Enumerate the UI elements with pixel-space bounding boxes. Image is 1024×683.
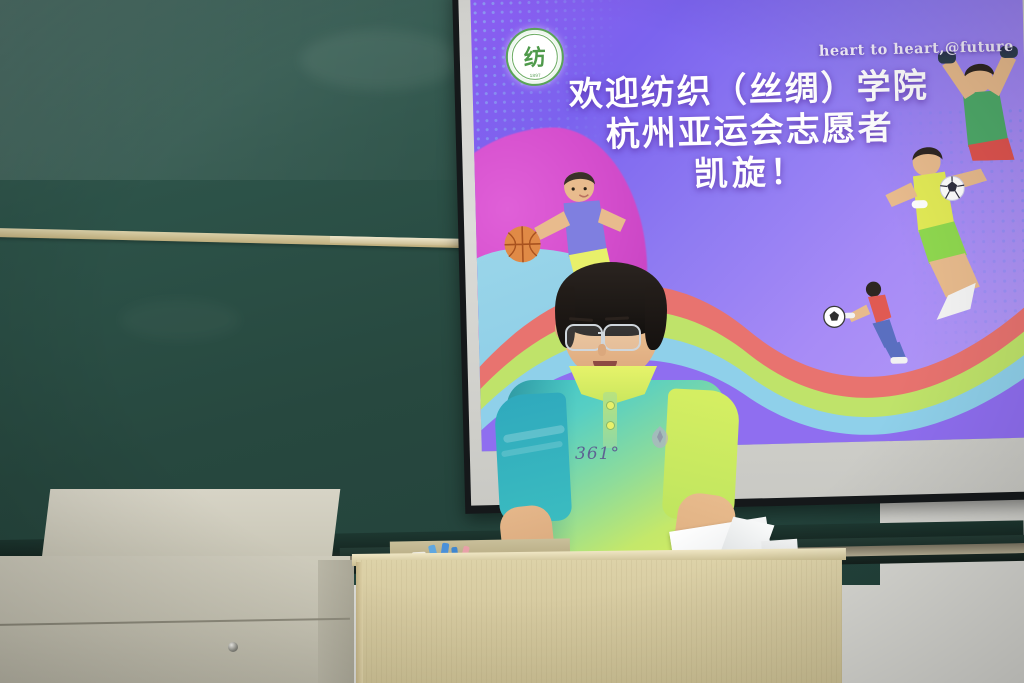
podium-left-edge [356,562,363,683]
emblem-mark: 纺 [523,40,546,73]
shirt-crest-emblem [649,424,671,450]
shirt-brand-logo: 361° [575,444,620,464]
shirt-button [607,422,614,429]
shirt-button [607,402,614,409]
classroom-scene: 纺 1897 heart to heart,@future 欢迎纺织（丝绸）学院… [0,0,1024,683]
cabinet-lid [42,489,341,559]
nose [598,344,606,356]
sleeve-left [494,392,573,524]
cabinet-side-panel [318,560,354,683]
shirt-placket [603,392,617,448]
slide-title: 欢迎纺织（丝绸）学院 杭州亚运会志愿者 凯旋！ [472,64,1024,202]
glasses-bridge [598,332,605,334]
wood-grain [356,560,842,683]
hair-side-right [645,284,667,350]
chalk-smudge [300,30,460,90]
podium-front-panel [356,560,842,683]
glasses-lens-right [603,324,641,351]
chalk-smudge [120,300,240,340]
cabinet-knob[interactable] [228,642,238,652]
